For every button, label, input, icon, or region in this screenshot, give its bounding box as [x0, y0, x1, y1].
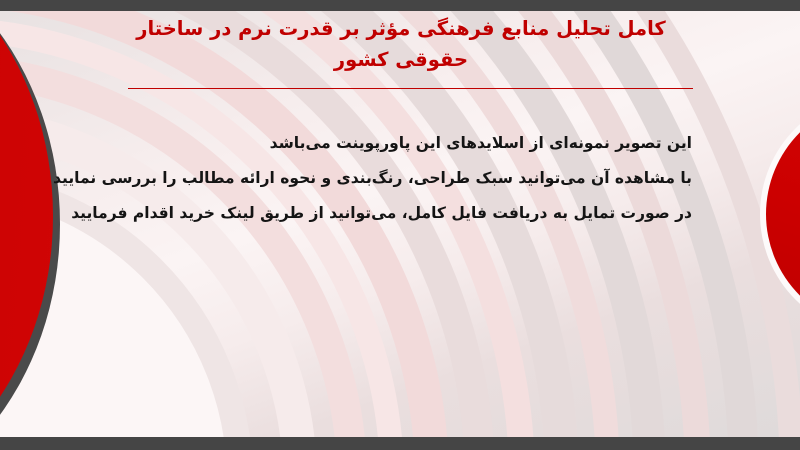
slide-canvas: کامل تحلیل منابع فرهنگی مؤثر بر قدرت نرم…: [0, 0, 800, 450]
frame-top-band: [0, 0, 800, 11]
title-underline-rule: [128, 88, 693, 89]
body-line-2: با مشاهده آن می‌توانید سبک طراحی، رنگ‌بن…: [92, 161, 692, 196]
body-line-3: در صورت تمایل به دریافت فایل کامل، می‌تو…: [92, 196, 692, 231]
left-red-lens-shape: [0, 11, 53, 437]
slide-content-area: کامل تحلیل منابع فرهنگی مؤثر بر قدرت نرم…: [0, 11, 800, 437]
body-line-1: این تصویر نمونه‌ای از اسلایدهای این پاور…: [92, 126, 692, 161]
frame-bottom-band: [0, 437, 800, 450]
slide-title: کامل تحلیل منابع فرهنگی مؤثر بر قدرت نرم…: [106, 13, 696, 75]
slide-title-text: کامل تحلیل منابع فرهنگی مؤثر بر قدرت نرم…: [106, 13, 696, 75]
slide-body: این تصویر نمونه‌ای از اسلایدهای این پاور…: [92, 126, 692, 231]
